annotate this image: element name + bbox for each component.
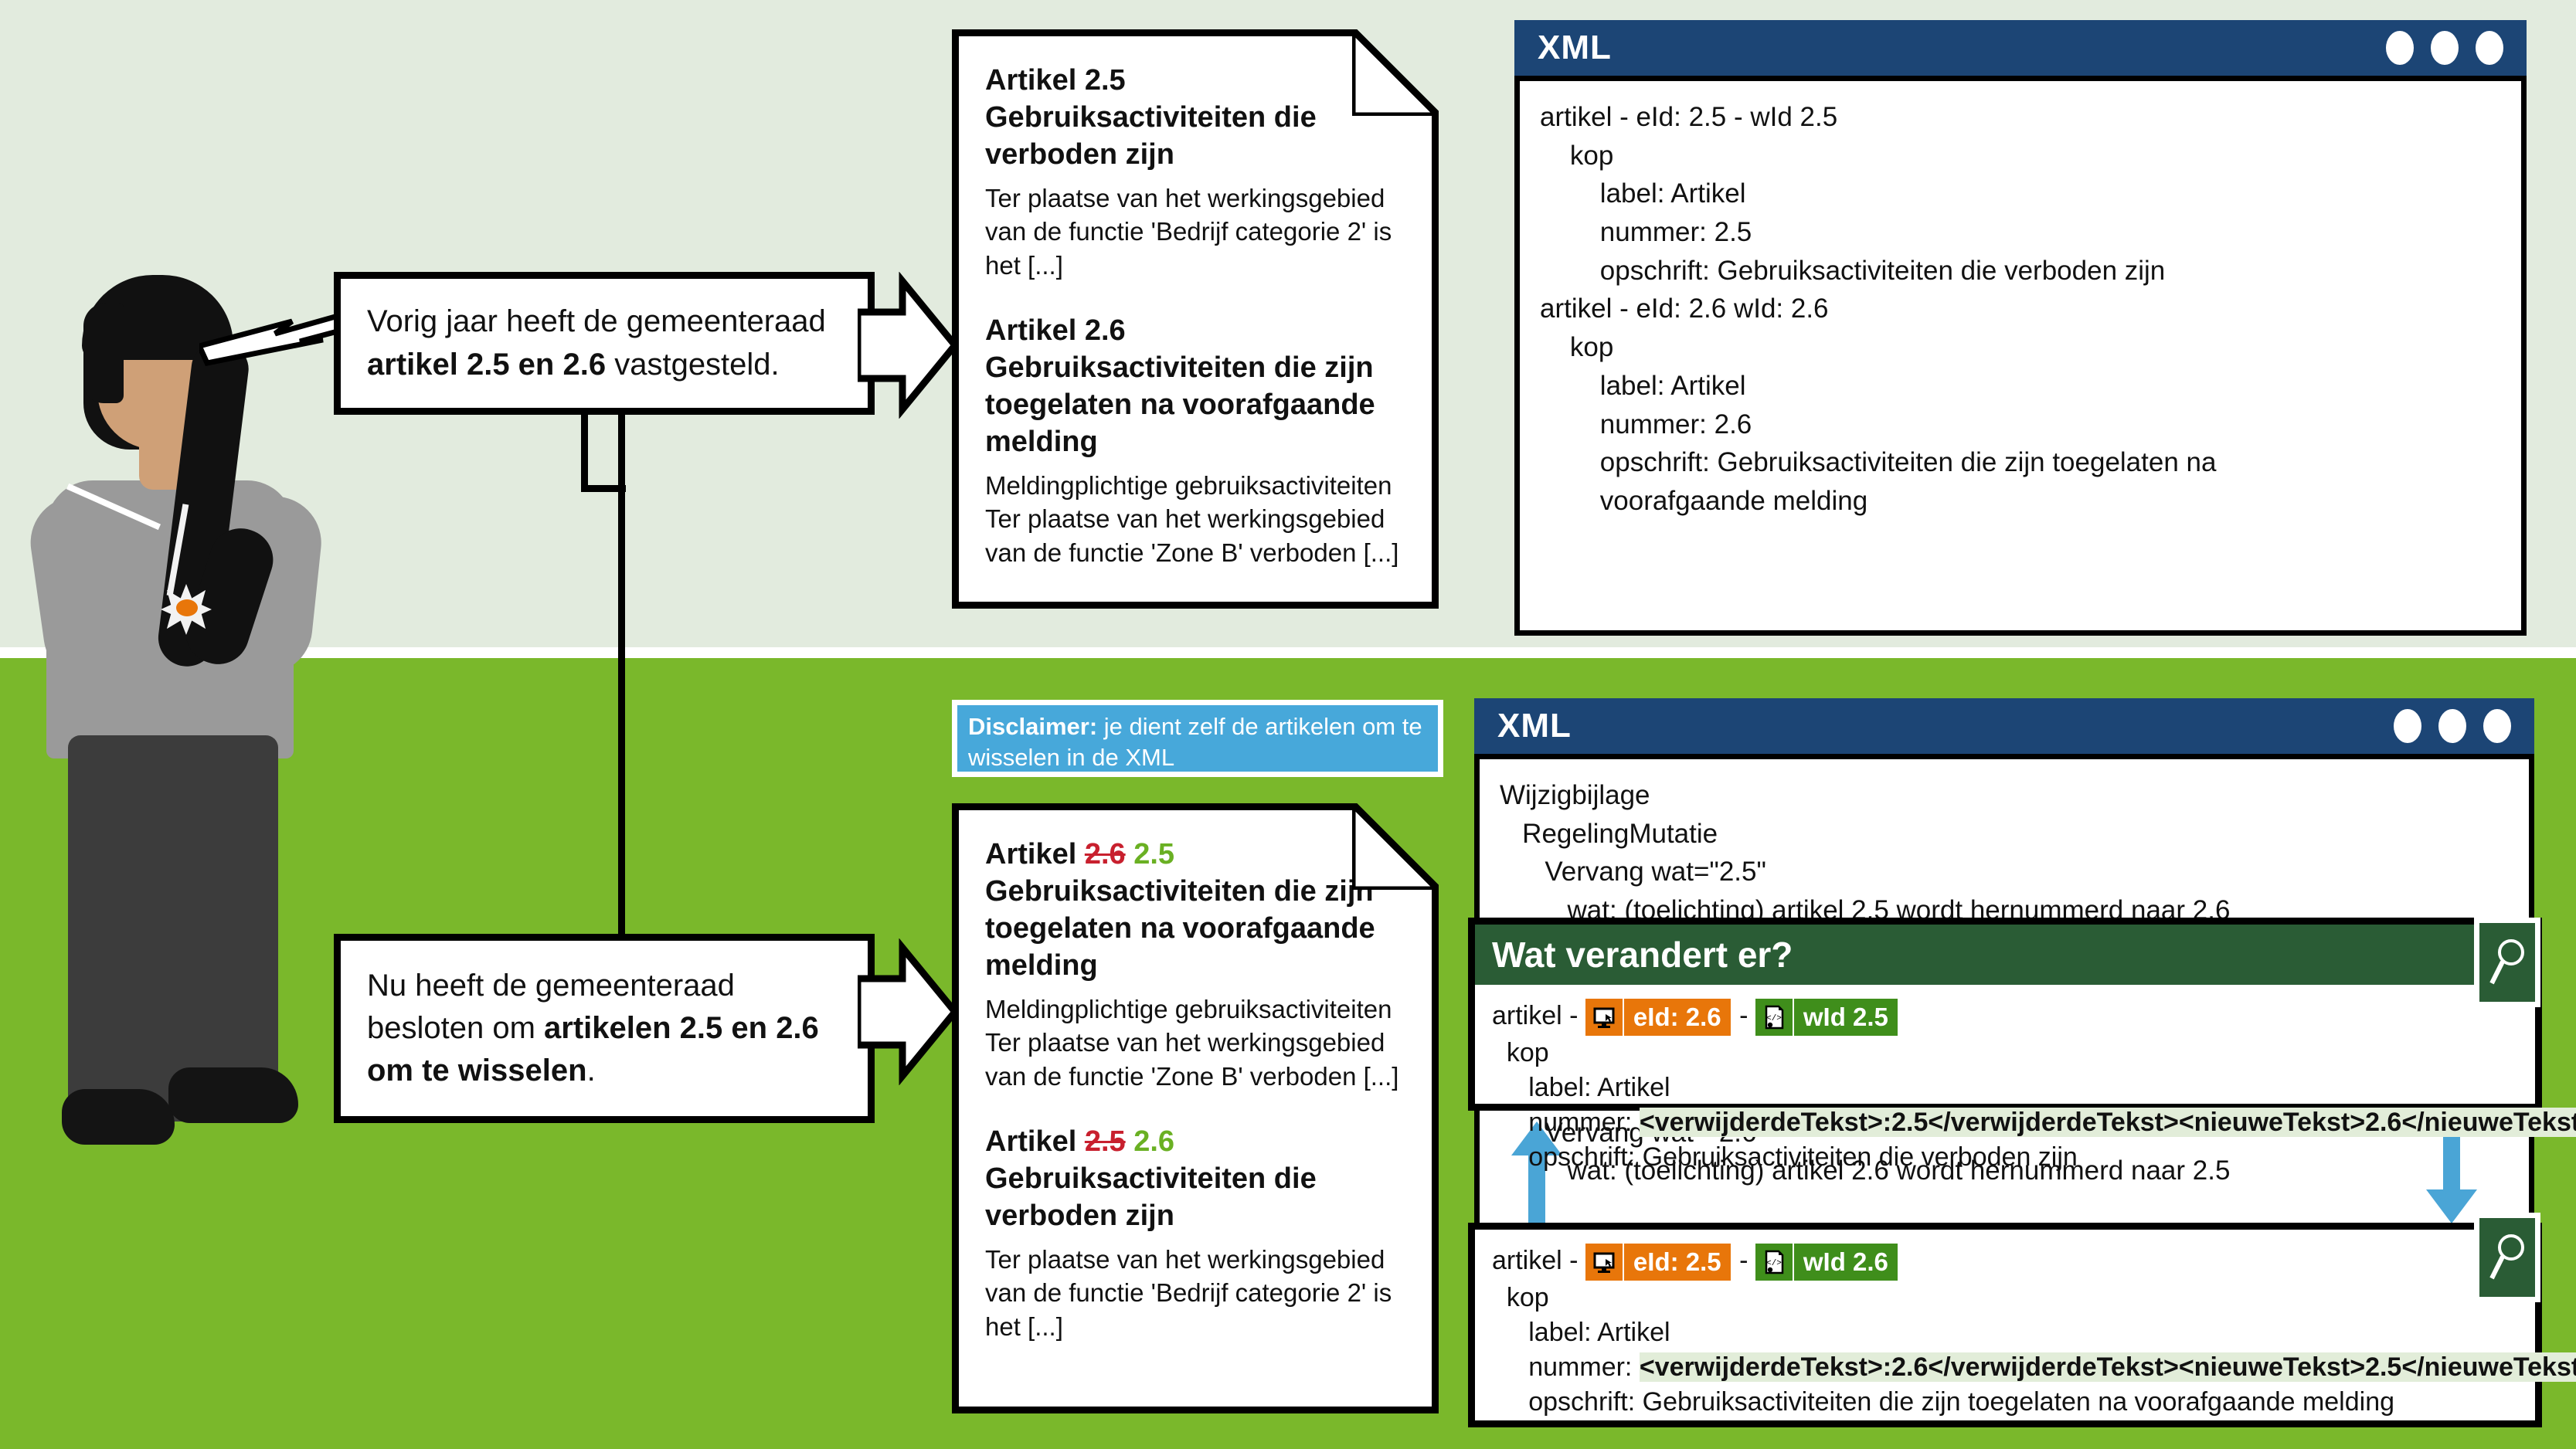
xml-line: opschrift: Gebruiksactiviteiten die zijn… — [1540, 443, 2501, 482]
article-title: Gebruiksactiviteiten die zijn toegelaten… — [985, 875, 1375, 982]
change-row-identifiers: artikel - eId: 2.5 - </>wId 2.6 — [1492, 1244, 2518, 1281]
connector-line-c — [581, 485, 626, 492]
person-left-shoe — [62, 1089, 175, 1145]
change-panel-bottom: artikel - eId: 2.5 - </>wId 2.6 kop labe… — [1468, 1223, 2542, 1427]
change-nummer-value: <verwijderdeTekst>:2.6</verwijderdeTekst… — [1640, 1352, 2576, 1382]
speech-bubble-top: Vorig jaar heeft de gemeenteraad artikel… — [334, 272, 875, 415]
change-row-prefix: artikel - — [1492, 1246, 1585, 1275]
article-label: Artikel — [985, 64, 1085, 97]
change-nummer-line: nummer: <verwijderdeTekst>:2.5</verwijde… — [1492, 1105, 2518, 1140]
article-title: Gebruiksactiviteiten die verboden zijn — [985, 101, 1317, 171]
article-label: Artikel — [985, 314, 1085, 347]
article-body: Ter plaatse van het werkingsgebied van d… — [985, 182, 1405, 283]
xml-window-top-title: XML — [1538, 29, 1612, 67]
eid-badge: eId: 2.6 — [1624, 999, 1731, 1036]
wid-badge: wId 2.6 — [1794, 1244, 1898, 1281]
xml-line: artikel - eId: 2.6 wId: 2.6 — [1540, 290, 2501, 328]
speech-bottom-part2: . — [587, 1054, 596, 1088]
change-row-identifiers: artikel - eId: 2.6 - </>wId 2.5 — [1492, 999, 2518, 1036]
arrow-right-icon-top — [858, 272, 958, 419]
xml-window-top-body: artikel - eId: 2.5 - wId 2.5 kop label: … — [1514, 81, 2527, 636]
necklace-pendant-center — [176, 599, 198, 616]
svg-text:</>: </> — [1766, 1259, 1782, 1268]
search-icon — [2487, 1232, 2527, 1283]
article-number: 2.6 — [1085, 314, 1126, 347]
article-title: Gebruiksactiviteiten die verboden zijn — [985, 1162, 1317, 1232]
article-body: Ter plaatse van het werkingsgebied van d… — [985, 1243, 1405, 1344]
change-panel-top-header: Wat verandert er? — [1475, 925, 2535, 985]
xml-line: RegelingMutatie — [1500, 815, 2509, 853]
article-number-new: 2.6 — [1133, 1125, 1174, 1158]
speech-bolt-icon — [199, 306, 346, 368]
speech-bubble-bottom-text: Nu heeft de gemeenteraad besloten om art… — [341, 965, 868, 1093]
xml-window-bottom-titlebar: XML — [1474, 698, 2534, 759]
window-dot-3-icon[interactable] — [2483, 709, 2511, 743]
window-controls-bottom[interactable] — [2394, 709, 2511, 743]
article-number: 2.5 — [1085, 64, 1126, 97]
xml-window-top: XML artikel - eId: 2.5 - wId 2.5 kop lab… — [1514, 20, 2527, 630]
speech-bubble-top-text: Vorig jaar heeft de gemeenteraad artikel… — [341, 300, 868, 385]
speech-bubble-bottom: Nu heeft de gemeenteraad besloten om art… — [334, 934, 875, 1123]
change-opschrift-line: opschrift: Gebruiksactiviteiten die zijn… — [1492, 1385, 2518, 1420]
connector-line-b — [618, 415, 625, 986]
window-dot-2-icon[interactable] — [2431, 31, 2459, 65]
arrow-right-icon-bottom — [858, 938, 958, 1085]
document-card-top-content: Artikel 2.5Gebruiksactiviteiten die verb… — [959, 36, 1432, 608]
search-icon — [2487, 937, 2527, 988]
change-line: label: Artikel — [1492, 1315, 2518, 1350]
xml-window-top-titlebar: XML — [1514, 20, 2527, 81]
svg-text:</>: </> — [1766, 1014, 1782, 1023]
article-body: Meldingplichtige gebruiksactiviteiten Te… — [985, 993, 1405, 1094]
change-panel-bottom-body: artikel - eId: 2.5 - </>wId 2.6 kop labe… — [1475, 1230, 2535, 1434]
article-label: Artikel — [985, 838, 1085, 870]
change-opschrift-line: opschrift: Gebruiksactiviteiten die verb… — [1492, 1140, 2518, 1175]
change-line: label: Artikel — [1492, 1071, 2518, 1105]
magnifier-button-top[interactable] — [2474, 918, 2540, 1007]
eid-badge: eId: 2.5 — [1624, 1244, 1731, 1281]
change-nummer-value: <verwijderdeTekst>:2.5</verwijderdeTekst… — [1640, 1108, 2576, 1137]
article-heading: Artikel 2.5 2.6Gebruiksactiviteiten die … — [985, 1124, 1405, 1235]
article-heading: Artikel 2.6 2.5Gebruiksactiviteiten die … — [985, 836, 1405, 985]
window-dot-1-icon[interactable] — [2386, 31, 2414, 65]
article-body: Meldingplichtige gebruiksactiviteiten Te… — [985, 469, 1405, 570]
article-number-old: 2.5 — [1085, 1125, 1126, 1158]
code-file-icon: </> — [1755, 999, 1793, 1036]
page-fold-icon-top — [1352, 29, 1439, 116]
change-nummer-label: nummer: — [1492, 1108, 1640, 1137]
xml-window-bottom-title: XML — [1497, 707, 1572, 745]
wid-badge: wId 2.5 — [1794, 999, 1898, 1036]
window-dot-1-icon[interactable] — [2394, 709, 2421, 743]
article-label: Artikel — [985, 1125, 1085, 1158]
change-row-separator: - — [1732, 1001, 1755, 1030]
person-illustration — [23, 272, 348, 1176]
article-heading: Artikel 2.6Gebruiksactiviteiten die zijn… — [985, 313, 1405, 461]
window-controls-top[interactable] — [2386, 31, 2503, 65]
change-nummer-line: nummer: <verwijderdeTekst>:2.6</verwijde… — [1492, 1350, 2518, 1385]
xml-line: voorafgaande melding — [1540, 482, 2501, 521]
connector-line-a — [581, 415, 588, 492]
xml-line: label: Artikel — [1540, 367, 2501, 406]
change-panel-title: Wat verandert er? — [1492, 934, 1793, 976]
xml-line: kop — [1540, 328, 2501, 367]
person-right-shoe — [168, 1067, 298, 1123]
xml-line: nummer: 2.5 — [1540, 213, 2501, 252]
window-dot-2-icon[interactable] — [2438, 709, 2466, 743]
article-title: Gebruiksactiviteiten die zijn toegelaten… — [985, 351, 1375, 458]
monitor-icon — [1585, 999, 1623, 1036]
disclaimer-label: Disclaimer: — [968, 713, 1097, 740]
window-dot-3-icon[interactable] — [2476, 31, 2503, 65]
change-row-prefix: artikel - — [1492, 1001, 1585, 1030]
magnifier-button-bottom[interactable] — [2474, 1213, 2540, 1302]
document-card-top: Artikel 2.5Gebruiksactiviteiten die verb… — [952, 29, 1439, 609]
article-number-new: 2.5 — [1133, 838, 1174, 870]
change-panel-top-body: artikel - eId: 2.6 - </>wId 2.5 kop labe… — [1475, 985, 2535, 1189]
xml-line: Wijzigbijlage — [1500, 776, 2509, 815]
speech-top-bold: artikel 2.5 en 2.6 — [367, 348, 606, 382]
article-heading: Artikel 2.5Gebruiksactiviteiten die verb… — [985, 63, 1405, 174]
person-hair-side — [83, 303, 124, 403]
xml-line: artikel - eId: 2.5 - wId 2.5 — [1540, 98, 2501, 137]
article-number-old: 2.6 — [1085, 838, 1126, 870]
change-row-separator: - — [1732, 1246, 1755, 1275]
speech-top-part2: vastgesteld. — [606, 348, 780, 382]
speech-top-part1: Vorig jaar heeft de gemeenteraad — [367, 304, 826, 338]
xml-line: Vervang wat="2.5" — [1500, 853, 2509, 891]
code-file-icon: </> — [1755, 1244, 1793, 1281]
disclaimer-banner: Disclaimer: je dient zelf de artikelen o… — [952, 700, 1443, 777]
xml-line: kop — [1540, 137, 2501, 175]
xml-line: opschrift: Gebruiksactiviteiten die verb… — [1540, 252, 2501, 290]
change-panel-top: Wat verandert er? artikel - eId: 2.6 - <… — [1468, 918, 2542, 1111]
monitor-icon — [1585, 1244, 1623, 1281]
xml-line: nummer: 2.6 — [1540, 406, 2501, 444]
change-line: kop — [1492, 1281, 2518, 1315]
document-card-bottom-content: Artikel 2.6 2.5Gebruiksactiviteiten die … — [959, 810, 1432, 1382]
change-nummer-label: nummer: — [1492, 1352, 1640, 1382]
document-card-bottom: Artikel 2.6 2.5Gebruiksactiviteiten die … — [952, 803, 1439, 1413]
xml-line: label: Artikel — [1540, 175, 2501, 213]
page-fold-icon-bottom — [1352, 803, 1439, 890]
change-line: kop — [1492, 1036, 2518, 1071]
